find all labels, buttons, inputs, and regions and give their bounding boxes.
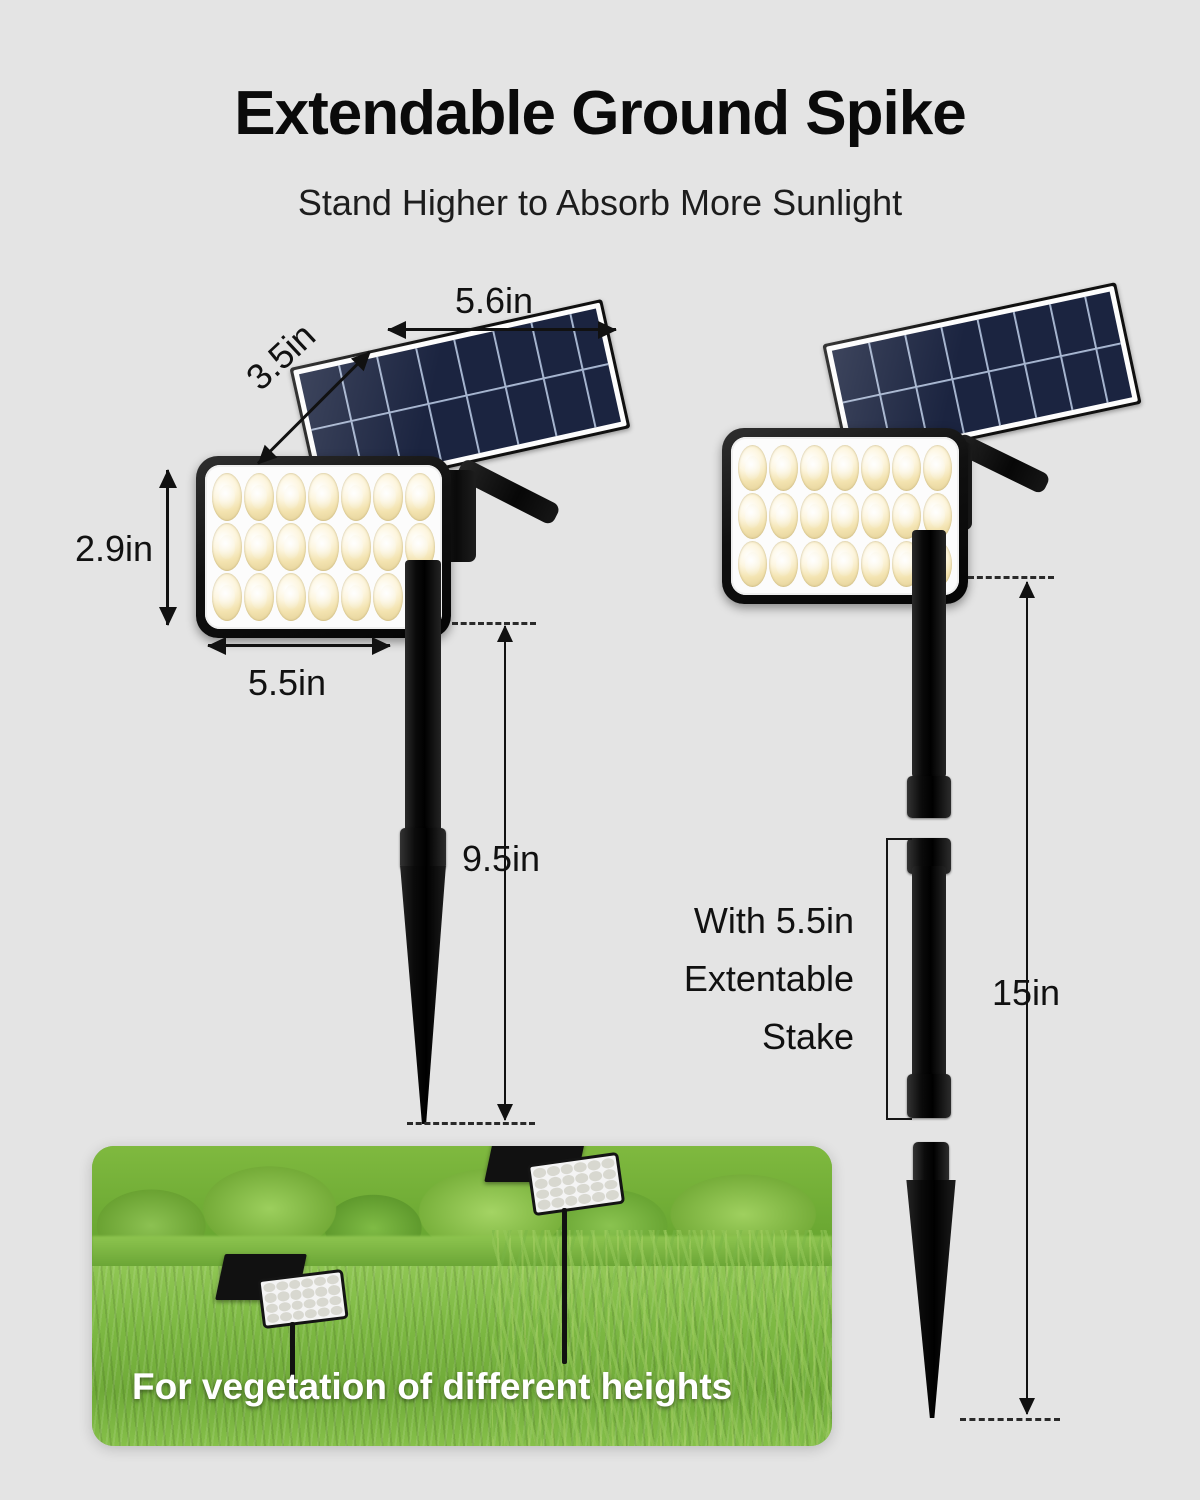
led (212, 523, 242, 571)
stake-note-line-3: Stake (672, 1016, 854, 1058)
right-upper-pole (912, 530, 946, 778)
led (308, 473, 338, 521)
led (244, 473, 274, 521)
led (861, 445, 890, 491)
led (341, 523, 371, 571)
right-extension-tube (912, 866, 946, 1078)
photo-caption: For vegetation of different heights (132, 1366, 732, 1408)
led (738, 493, 767, 539)
led (244, 523, 274, 571)
led (800, 445, 829, 491)
led (769, 541, 798, 587)
infographic-canvas: Extendable Ground Spike Stand Higher to … (0, 0, 1200, 1500)
led (738, 445, 767, 491)
dim-total-height-label-left: 9.5in (462, 838, 540, 880)
led (892, 445, 921, 491)
dim-head-height-label: 2.9in (75, 528, 153, 570)
led (405, 473, 435, 521)
led (212, 473, 242, 521)
led (769, 445, 798, 491)
right-upper-collar (907, 776, 951, 818)
led (341, 473, 371, 521)
led (831, 445, 860, 491)
led (341, 573, 371, 621)
left-spike-tip (397, 866, 449, 1124)
photo-tall-grass (492, 1230, 832, 1446)
dim-head-height-arrow (166, 470, 169, 625)
led (212, 573, 242, 621)
led (373, 573, 403, 621)
led (308, 573, 338, 621)
left-bottom-dash (407, 1122, 535, 1125)
dim-panel-width-arrow (388, 328, 616, 331)
stake-note-line-1: With 5.5in (672, 900, 854, 942)
led (244, 573, 274, 621)
right-spike-tip (903, 1180, 959, 1418)
led (800, 493, 829, 539)
dim-panel-width-label: 5.6in (455, 280, 533, 322)
extendable-stake-bracket (886, 838, 912, 1120)
led (276, 573, 306, 621)
led (923, 445, 952, 491)
led (831, 493, 860, 539)
led (861, 493, 890, 539)
led (276, 523, 306, 571)
stake-note-line-2: Extentable (652, 958, 854, 1000)
right-bottom-dash (960, 1418, 1060, 1421)
left-pole (405, 560, 441, 832)
right-top-dash (968, 576, 1054, 579)
led (861, 541, 890, 587)
dim-head-width-label: 5.5in (248, 662, 326, 704)
led (831, 541, 860, 587)
lifestyle-photo: For vegetation of different heights (92, 1146, 832, 1446)
page-subtitle: Stand Higher to Absorb More Sunlight (0, 182, 1200, 224)
led (373, 473, 403, 521)
right-spike-collar (913, 1142, 949, 1184)
led (738, 541, 767, 587)
led (373, 523, 403, 571)
right-extension-bottom-collar (907, 1074, 951, 1118)
led (276, 473, 306, 521)
page-title: Extendable Ground Spike (0, 78, 1200, 149)
led (769, 493, 798, 539)
dim-total-height-label-right: 15in (992, 972, 1060, 1014)
dim-head-width-arrow (208, 644, 390, 647)
led (308, 523, 338, 571)
left-pole-collar (400, 828, 446, 870)
left-top-dash (452, 622, 536, 625)
led (800, 541, 829, 587)
